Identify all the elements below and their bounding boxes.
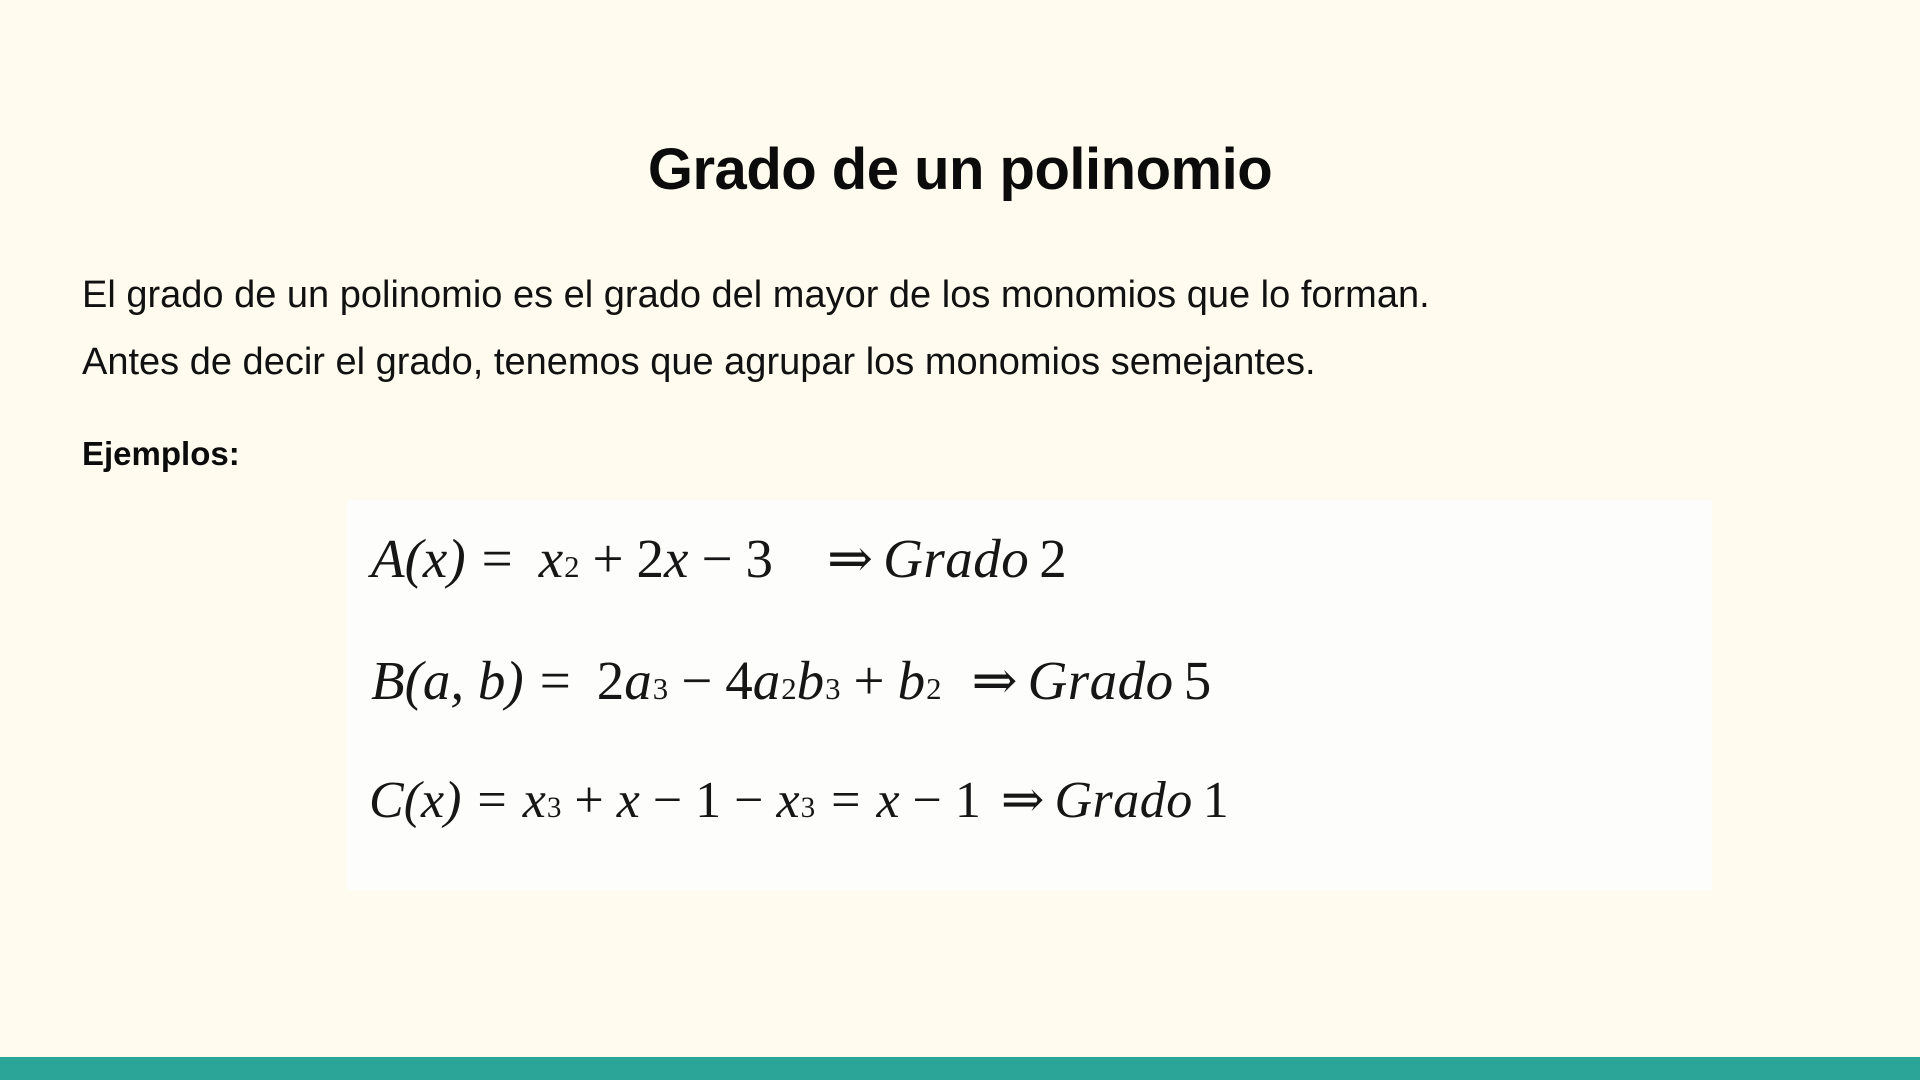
equation-a-function-args: (x) [405,527,466,590]
equation-b-equals: = [524,649,587,712]
equation-a-term2-operator: + [580,527,637,590]
page-title: Grado de un polinomio [0,137,1920,203]
body-line-1: El grado de un polinomio es el grado del… [82,262,1842,329]
equation-b-result-label: Grado [1028,649,1174,712]
equation-c-simplified-term2-operator: − [900,771,955,830]
equation-b-function-letter: B [371,649,405,712]
equation-a-term2-coefficient: 2 [637,527,665,590]
equation-c-function-args: (x) [404,771,462,830]
body-line-2: Antes de decir el grado, tenemos que agr… [82,329,1842,396]
equation-c-term4-base: x [776,771,799,830]
equation-b-result-value: 5 [1184,649,1212,712]
equation-b-term2-base: a [753,649,781,712]
equation-a-result-value: 2 [1039,527,1067,590]
equation-b-term2-coefficient: 4 [725,649,753,712]
equation-c-term1-base: x [523,771,546,830]
equation-c-term2-operator: + [561,771,616,830]
equation-c-result-label: Grado [1054,771,1192,830]
slide: Grado de un polinomio El grado de un pol… [0,0,1920,1080]
body-text: El grado de un polinomio es el grado del… [82,262,1842,396]
equation-c-term2-base: x [617,771,640,830]
equation-c-equals-2: = [815,771,876,830]
equation-row-c: C(x) = x3 + x − 1 − x3 = x − 1 ⇒ Grado 1 [347,770,1712,892]
equation-c-simplified-term1-base: x [876,771,899,830]
equation-b-term1-base: a [624,649,652,712]
equation-a-term3-coefficient: 3 [746,527,774,590]
equation-row-a: A(x) = x2 + 2x − 3 ⇒ Grado 2 [347,526,1712,648]
examples-label: Ejemplos: [82,432,240,476]
equation-b-term2-operator: − [668,649,725,712]
equation-c-simplified-term2-coefficient: 1 [955,771,981,830]
equation-a-term1-base: x [539,527,563,590]
equation-a-equals: = [466,527,529,590]
equation-b-term3-base: b [898,649,926,712]
equation-a-implies-arrow-icon: ⇒ [817,526,883,590]
equation-c-term4-operator: − [721,771,776,830]
equation-c-function-letter: C [369,771,404,830]
equation-b-implies-arrow-icon: ⇒ [961,648,1027,712]
equation-b-function-args: (a, b) [405,649,524,712]
equation-b-term1-coefficient: 2 [597,649,625,712]
equation-c-implies-arrow-icon: ⇒ [991,770,1055,830]
equation-a-term2-base: x [664,527,688,590]
equation-a-result-label: Grado [883,527,1029,590]
equation-c-term3-coefficient: 1 [695,771,721,830]
equation-a-term3-operator: − [688,527,745,590]
equation-c-result-value: 1 [1203,771,1229,830]
equation-c-term3-operator: − [640,771,695,830]
equation-row-b: B(a, b) = 2a3 − 4a2b3 + b2 ⇒ Grado 5 [347,648,1712,770]
equation-a-function-letter: A [371,527,405,590]
footer-accent-bar [0,1057,1920,1080]
equation-b-term2-base2: b [797,649,825,712]
equation-c-equals: = [461,771,522,830]
equation-list: A(x) = x2 + 2x − 3 ⇒ Grado 2 B(a, b) = 2… [347,500,1712,890]
equation-b-term3-operator: + [841,649,898,712]
equation-image-panel: A(x) = x2 + 2x − 3 ⇒ Grado 2 B(a, b) = 2… [347,500,1712,890]
